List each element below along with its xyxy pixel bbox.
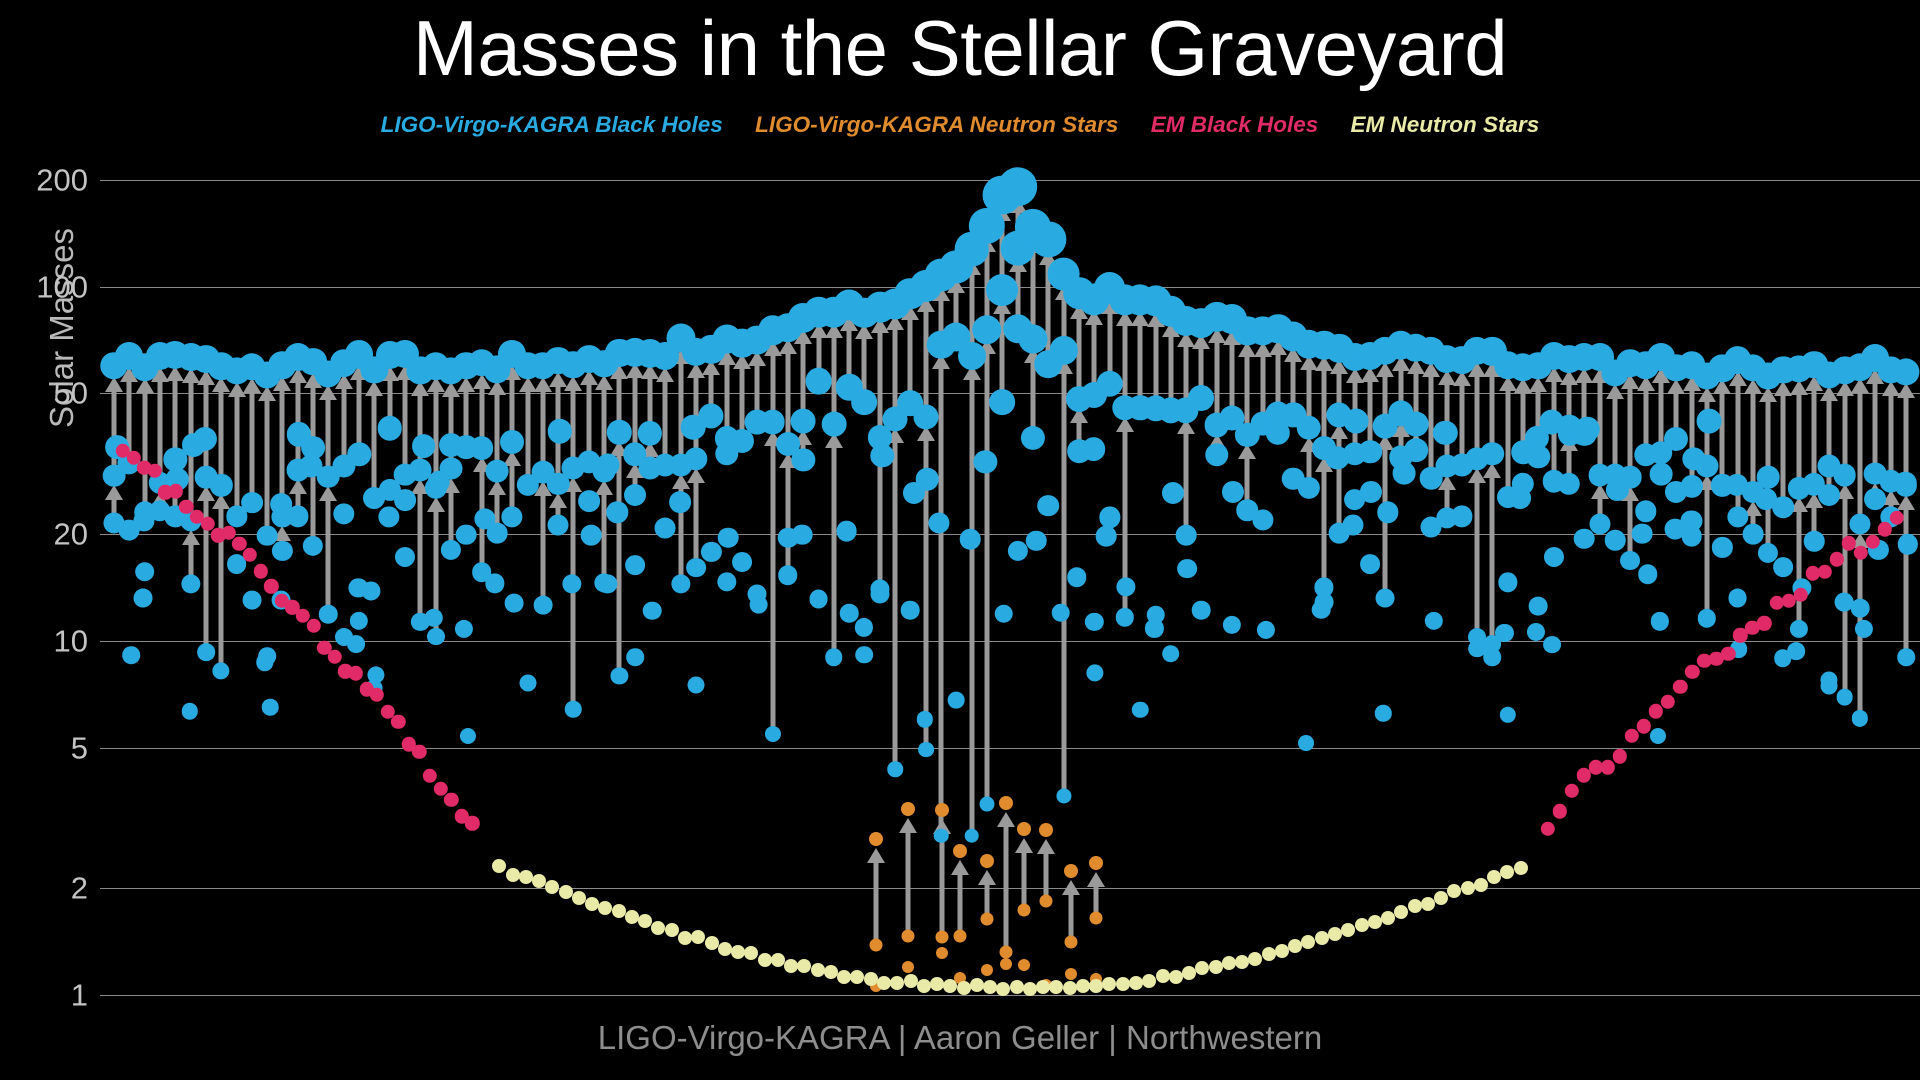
merger-arrow-head xyxy=(304,457,322,472)
merger-arrow-shaft xyxy=(801,340,806,422)
merger-arrow-shaft xyxy=(1276,351,1281,414)
em-neutron-star xyxy=(1063,981,1077,995)
em-neutron-star xyxy=(824,965,838,979)
lvk-black-hole-component xyxy=(1665,519,1686,540)
merger-arrow-head xyxy=(1483,463,1501,478)
em-neutron-star xyxy=(744,946,758,960)
merger-arrow-shaft xyxy=(831,334,836,424)
em-black-hole xyxy=(264,579,278,593)
em-black-hole xyxy=(1709,652,1723,666)
merger-arrow-shaft xyxy=(1199,345,1204,397)
merger-arrow-shaft xyxy=(1094,883,1099,918)
lvk-black-hole-component xyxy=(474,509,495,530)
lvk-black-hole-secondary xyxy=(1529,597,1548,616)
legend-item-em-black-holes[interactable]: EM Black Holes xyxy=(1151,112,1319,138)
em-black-hole xyxy=(1757,616,1771,630)
em-black-hole xyxy=(317,641,331,655)
em-black-hole xyxy=(253,564,267,578)
lvk-neutron-star-remnant xyxy=(980,854,994,868)
merger-arrow-shaft xyxy=(877,457,882,589)
lvk-black-hole-component xyxy=(1468,640,1486,658)
lvk-neutron-star-secondary xyxy=(981,964,993,976)
em-neutron-star xyxy=(1315,931,1329,945)
merger-arrow-shaft xyxy=(939,297,944,345)
em-neutron-star xyxy=(970,978,984,992)
em-black-hole xyxy=(433,781,447,795)
lvk-neutron-star-remnant xyxy=(869,832,883,846)
lvk-neutron-star-secondary xyxy=(902,961,914,973)
merger-arrow-shaft xyxy=(265,397,270,535)
merger-arrow-head xyxy=(396,365,414,380)
em-black-hole xyxy=(1685,664,1699,678)
merger-arrow-shaft xyxy=(1245,353,1250,435)
lvk-black-hole-component xyxy=(134,588,153,607)
em-black-hole xyxy=(1577,768,1591,782)
merger-arrow-shaft xyxy=(418,392,423,470)
em-neutron-star xyxy=(771,953,785,967)
em-black-hole xyxy=(1661,695,1675,709)
merger-arrow-head xyxy=(289,479,307,494)
lvk-black-hole-secondary xyxy=(715,442,739,466)
merger-arrow-shaft xyxy=(1043,850,1048,902)
merger-arrow-shaft xyxy=(785,350,790,445)
em-black-hole xyxy=(1769,596,1783,610)
merger-arrow-shaft xyxy=(1904,506,1909,657)
lvk-black-hole-secondary xyxy=(1344,489,1366,511)
merger-arrow-head xyxy=(947,278,965,293)
em-black-hole xyxy=(1805,566,1819,580)
merger-arrow-head xyxy=(997,812,1015,827)
lvk-black-hole-secondary xyxy=(1574,528,1595,549)
merger-arrow-shaft xyxy=(985,350,990,804)
em-neutron-star xyxy=(890,976,904,990)
em-neutron-star xyxy=(718,942,732,956)
lvk-black-hole-secondary xyxy=(1512,473,1534,495)
lvk-black-hole-secondary xyxy=(242,590,261,609)
merger-arrow-shaft xyxy=(862,335,867,402)
lvk-black-hole-secondary xyxy=(1132,702,1149,719)
merger-arrow-shaft xyxy=(923,437,928,749)
lvk-black-hole-secondary xyxy=(1099,507,1120,528)
lvk-black-hole-secondary xyxy=(809,590,828,609)
merger-arrow-shaft xyxy=(1888,392,1893,481)
merger-arrow-shaft xyxy=(1153,323,1158,409)
legend-item-lvk-black-holes[interactable]: LIGO-Virgo-KAGRA Black Holes xyxy=(381,112,723,138)
merger-arrow-shaft xyxy=(1490,474,1495,645)
merger-arrow-shaft xyxy=(1842,392,1847,475)
lvk-black-hole-remnant xyxy=(1678,352,1705,379)
em-neutron-star xyxy=(1301,935,1315,949)
lvk-black-hole-secondary xyxy=(135,562,155,582)
em-neutron-star xyxy=(1049,980,1063,994)
lvk-neutron-star-secondary xyxy=(1065,968,1077,980)
lvk-black-hole-remnant xyxy=(1861,344,1889,372)
merger-arrow-shaft xyxy=(1505,387,1510,497)
lvk-black-hole-secondary xyxy=(1498,573,1517,592)
legend-item-em-neutron-stars[interactable]: EM Neutron Stars xyxy=(1351,112,1540,138)
merger-arrow-head xyxy=(1039,250,1057,265)
merger-arrow-shaft xyxy=(510,462,515,517)
merger-arrow-shaft xyxy=(770,442,775,734)
merger-arrow-shaft xyxy=(847,327,852,388)
merger-arrow-shaft xyxy=(188,379,193,521)
em-neutron-star xyxy=(1288,939,1302,953)
merger-arrow-head xyxy=(978,339,996,354)
merger-arrow-shaft xyxy=(648,375,653,433)
em-neutron-star xyxy=(1262,947,1276,961)
merger-arrow-head xyxy=(963,260,981,275)
em-neutron-star xyxy=(1222,956,1236,970)
lvk-black-hole-component xyxy=(412,435,436,459)
merger-arrow-shaft xyxy=(1597,379,1602,475)
lvk-black-hole-component xyxy=(378,507,399,528)
merger-arrow-shaft xyxy=(1306,366,1311,428)
merger-arrow-shaft xyxy=(1321,468,1326,587)
merger-arrow-shaft xyxy=(1858,544,1863,719)
merger-arrow-shaft xyxy=(1383,446,1388,598)
merger-arrow-shaft xyxy=(1796,391,1801,489)
gridline-2 xyxy=(100,888,1920,889)
merger-arrow-shaft xyxy=(816,334,821,380)
lvk-black-hole-secondary xyxy=(227,555,247,575)
merger-arrow-shaft xyxy=(571,387,576,468)
lvk-black-hole-remnant xyxy=(468,349,496,377)
merger-arrow-head xyxy=(1315,457,1333,472)
merger-arrow-head xyxy=(687,468,705,483)
lvk-black-hole-secondary xyxy=(1360,554,1380,574)
lvk-black-hole-component xyxy=(1222,481,1244,503)
lvk-black-hole-component xyxy=(596,453,619,476)
lvk-black-hole-component xyxy=(1543,636,1561,654)
merger-arrow-shaft xyxy=(602,386,607,471)
merger-arrow-shaft xyxy=(479,385,484,448)
merger-arrow-shaft xyxy=(1674,390,1679,439)
lvk-black-hole-remnant xyxy=(1570,343,1598,371)
em-neutron-star xyxy=(519,870,533,884)
em-neutron-star xyxy=(506,868,520,882)
em-black-hole xyxy=(243,548,257,562)
lvk-black-hole-secondary xyxy=(1635,501,1656,522)
merger-arrow-shaft xyxy=(1015,268,1020,329)
em-black-hole xyxy=(349,666,363,680)
em-neutron-star xyxy=(1156,969,1170,983)
lvk-black-hole-component xyxy=(362,582,381,601)
plot-area: 200100502010521 xyxy=(100,140,1920,1020)
chart-canvas: Masses in the Stellar Graveyard LIGO-Vir… xyxy=(0,0,1920,1080)
merger-arrow-shaft xyxy=(311,468,316,546)
y-tick-label-200: 200 xyxy=(36,165,94,196)
y-tick-label-1: 1 xyxy=(71,980,94,1011)
merger-arrow-shaft xyxy=(831,444,836,657)
lvk-black-hole-component xyxy=(1730,640,1748,658)
merger-arrow-shaft xyxy=(1015,209,1020,249)
merger-arrow-head xyxy=(933,819,951,834)
lvk-black-hole-secondary xyxy=(1223,616,1241,634)
merger-arrow-head xyxy=(1055,285,1073,300)
lvk-black-hole-component xyxy=(1360,481,1382,503)
merger-arrow-shaft xyxy=(112,496,117,523)
merger-arrow-head xyxy=(1037,839,1055,854)
merger-arrow-shaft xyxy=(433,388,438,488)
lvk-black-hole-secondary xyxy=(856,646,874,664)
lvk-black-hole-component xyxy=(460,728,476,744)
merger-arrow-shaft xyxy=(1521,389,1526,452)
merger-arrow-shaft xyxy=(494,491,499,533)
lvk-black-hole-remnant xyxy=(115,342,143,370)
merger-arrow-head xyxy=(1330,424,1348,439)
em-neutron-star xyxy=(917,979,931,993)
em-black-hole xyxy=(455,809,469,823)
y-tick-label-20: 20 xyxy=(54,519,94,550)
em-black-hole xyxy=(402,737,416,751)
lvk-black-hole-component xyxy=(1650,727,1666,743)
merger-arrow-head xyxy=(1591,484,1609,499)
lvk-black-hole-component xyxy=(1651,612,1669,630)
merger-arrow-shaft xyxy=(1107,310,1112,383)
merger-arrow-shaft xyxy=(494,391,499,471)
merger-arrow-head xyxy=(867,848,885,863)
merger-arrow-shaft xyxy=(1122,428,1127,617)
em-black-hole xyxy=(275,593,289,607)
em-black-hole xyxy=(1818,565,1832,579)
merger-arrow-shaft xyxy=(525,388,530,485)
em-black-hole xyxy=(1649,704,1663,718)
em-black-hole xyxy=(1540,822,1554,836)
merger-arrow-shaft xyxy=(1704,398,1709,466)
lvk-black-hole-component xyxy=(182,433,206,457)
em-black-hole xyxy=(444,792,458,806)
merger-arrow-head xyxy=(932,354,950,369)
lvk-black-hole-remnant xyxy=(391,340,419,368)
lvk-black-hole-secondary xyxy=(119,519,140,540)
merger-arrow-head xyxy=(350,365,368,380)
merger-arrow-head xyxy=(1438,475,1456,490)
merger-arrow-head xyxy=(1024,348,1042,363)
em-neutron-star xyxy=(1142,974,1156,988)
lvk-black-hole-remnant xyxy=(621,338,649,366)
lvk-black-hole-component xyxy=(504,593,523,612)
em-black-hole xyxy=(1637,719,1651,733)
lvk-black-hole-component xyxy=(272,590,291,609)
lvk-black-hole-component xyxy=(1575,417,1600,442)
lvk-black-hole-component xyxy=(718,527,739,548)
merger-arrow-shaft xyxy=(295,379,300,470)
page-title: Masses in the Stellar Graveyard xyxy=(0,2,1920,94)
em-black-hole xyxy=(1721,647,1735,661)
lvk-black-hole-secondary xyxy=(1681,526,1702,547)
lvk-black-hole-component xyxy=(455,620,473,638)
merger-arrow-shaft xyxy=(1628,497,1633,560)
merger-arrow-shaft xyxy=(1735,382,1740,516)
merger-arrow-shaft xyxy=(1214,339,1219,425)
merger-arrow-shaft xyxy=(1490,373,1495,453)
lvk-neutron-star-remnant xyxy=(901,802,915,816)
em-neutron-star xyxy=(1408,899,1422,913)
lvk-black-hole-component xyxy=(123,646,141,664)
merger-arrow-head xyxy=(1300,437,1318,452)
legend-item-lvk-neutron-stars[interactable]: LIGO-Virgo-KAGRA Neutron Stars xyxy=(755,112,1118,138)
em-neutron-star xyxy=(585,897,599,911)
em-neutron-star xyxy=(492,859,506,873)
lvk-black-hole-component xyxy=(643,601,662,620)
lvk-black-hole-component xyxy=(349,579,368,598)
merger-arrow-shaft xyxy=(1061,296,1066,350)
merger-arrow-shaft xyxy=(1352,379,1357,454)
lvk-black-hole-component xyxy=(1499,707,1515,723)
lvk-neutron-star-secondary xyxy=(1000,958,1012,970)
lvk-black-hole-secondary xyxy=(1266,420,1290,444)
lvk-black-hole-secondary xyxy=(1605,530,1626,551)
y-tick-label-2: 2 xyxy=(71,873,94,904)
merger-arrow-shaft xyxy=(234,393,239,516)
em-neutron-star xyxy=(943,979,957,993)
em-neutron-star xyxy=(1076,979,1090,993)
lvk-black-hole-component xyxy=(836,521,857,542)
merger-arrow-head xyxy=(626,463,644,478)
merger-arrow-shaft xyxy=(602,491,607,583)
merger-arrow-shaft xyxy=(1122,322,1127,408)
em-neutron-star xyxy=(731,945,745,959)
em-neutron-star xyxy=(1514,861,1528,875)
lvk-black-hole-secondary xyxy=(1821,671,1838,688)
em-neutron-star xyxy=(559,885,573,899)
em-black-hole xyxy=(391,715,405,729)
lvk-black-hole-secondary xyxy=(1712,537,1732,557)
lvk-black-hole-component xyxy=(485,574,504,593)
lvk-black-hole-remnant xyxy=(544,347,572,375)
em-neutron-star xyxy=(1368,915,1382,929)
merger-arrow-shaft xyxy=(1766,497,1771,553)
lvk-neutron-star-remnant xyxy=(1064,864,1078,878)
merger-arrow-shaft xyxy=(1260,353,1265,424)
gridline-5 xyxy=(100,748,1920,749)
merger-arrow-head xyxy=(166,468,184,483)
lvk-black-hole-component xyxy=(903,482,925,504)
merger-arrow-head xyxy=(1560,436,1578,451)
lvk-black-hole-secondary xyxy=(1146,605,1165,624)
lvk-black-hole-remnant xyxy=(238,353,265,380)
em-neutron-star xyxy=(1182,966,1196,980)
merger-arrow-head xyxy=(794,430,812,445)
lvk-black-hole-component xyxy=(1509,487,1531,509)
em-neutron-star xyxy=(1169,970,1183,984)
merger-arrow-shaft xyxy=(1796,508,1801,628)
merger-arrow-shaft xyxy=(1413,370,1418,424)
merger-arrow-shaft xyxy=(1046,261,1051,364)
merger-arrow-shaft xyxy=(1429,373,1434,478)
lvk-black-hole-remnant xyxy=(1540,342,1568,370)
merger-arrow-head xyxy=(1591,368,1609,383)
merger-arrow-head xyxy=(1116,417,1134,432)
lvk-black-hole-secondary xyxy=(366,680,383,697)
merger-arrow-head xyxy=(273,526,291,541)
merger-arrow-head xyxy=(993,299,1011,314)
lvk-black-hole-secondary xyxy=(701,542,721,562)
merger-arrow-shaft xyxy=(905,829,910,936)
merger-arrow-shaft xyxy=(219,388,224,485)
em-neutron-star xyxy=(1434,891,1448,905)
lvk-neutron-star-remnant xyxy=(999,796,1013,810)
em-neutron-star xyxy=(1328,927,1342,941)
merger-arrow-head xyxy=(1897,383,1915,398)
merger-arrow-head xyxy=(503,451,521,466)
em-black-hole xyxy=(1673,680,1687,694)
merger-arrow-shaft xyxy=(479,468,484,572)
lvk-black-hole-component xyxy=(855,618,873,636)
em-neutron-star xyxy=(1102,977,1116,991)
merger-arrow-head xyxy=(1177,419,1195,434)
merger-arrow-shaft xyxy=(586,381,591,462)
merger-arrow-shaft xyxy=(433,508,438,636)
merger-arrow-shaft xyxy=(785,464,790,575)
lvk-black-hole-remnant xyxy=(1724,346,1752,374)
merger-arrow-shaft xyxy=(908,316,913,403)
lvk-black-hole-secondary xyxy=(1665,481,1687,503)
em-neutron-star xyxy=(784,959,798,973)
y-axis-title: Solar Masses xyxy=(44,178,80,478)
em-black-hole xyxy=(1697,653,1711,667)
merger-arrow-head xyxy=(886,428,904,443)
lvk-black-hole-remnant xyxy=(1586,344,1614,372)
gridline-10 xyxy=(100,641,1920,642)
merger-arrow-head xyxy=(1015,838,1033,853)
merger-arrow-head xyxy=(442,478,460,493)
em-black-hole xyxy=(412,744,426,758)
em-black-hole xyxy=(338,664,352,678)
merger-arrow-shaft xyxy=(739,365,744,441)
lvk-black-hole-component xyxy=(1257,621,1275,639)
em-neutron-star xyxy=(797,959,811,973)
merger-arrow-shaft xyxy=(678,360,683,465)
merger-arrow-head xyxy=(182,530,200,545)
merger-arrow-shaft xyxy=(1000,310,1005,402)
merger-arrow-shaft xyxy=(1459,382,1464,465)
merger-arrow-shaft xyxy=(939,365,944,836)
lvk-black-hole-secondary xyxy=(395,547,415,567)
y-tick-label-10: 10 xyxy=(54,625,94,656)
credit-line: LIGO-Virgo-KAGRA | Aaron Geller | Northw… xyxy=(0,1018,1920,1058)
lvk-neutron-star-remnant xyxy=(953,844,967,858)
em-neutron-star xyxy=(1209,960,1223,974)
lvk-black-hole-remnant xyxy=(345,340,373,368)
merger-arrow-shaft xyxy=(939,830,944,937)
merger-arrow-shaft xyxy=(893,326,898,419)
em-black-hole xyxy=(1564,783,1578,797)
chart-legend: LIGO-Virgo-KAGRA Black Holes LIGO-Virgo-… xyxy=(0,112,1920,138)
merger-arrow-shaft xyxy=(1321,367,1326,448)
merger-arrow-shaft xyxy=(1567,381,1572,427)
merger-arrow-head xyxy=(1009,198,1027,213)
lvk-black-hole-secondary xyxy=(1282,467,1305,490)
em-neutron-star xyxy=(758,953,772,967)
merger-arrow-shaft xyxy=(1658,379,1663,453)
em-neutron-star xyxy=(1500,865,1514,879)
merger-arrow-head xyxy=(427,497,445,512)
merger-arrow-shaft xyxy=(571,488,576,709)
em-black-hole xyxy=(328,650,342,664)
merger-arrow-shaft xyxy=(1597,495,1602,524)
lvk-neutron-star-secondary xyxy=(870,980,882,992)
merger-arrow-head xyxy=(1759,486,1777,501)
lvk-black-hole-secondary xyxy=(1650,463,1673,486)
merger-arrow-shaft xyxy=(219,505,224,670)
merger-arrow-shaft xyxy=(157,378,162,483)
merger-arrow-shaft xyxy=(510,376,515,442)
merger-arrow-shaft xyxy=(873,859,878,945)
lvk-black-hole-component xyxy=(688,676,705,693)
lvk-neutron-star-secondary xyxy=(1018,959,1030,971)
merger-arrow-shaft xyxy=(1643,387,1648,455)
